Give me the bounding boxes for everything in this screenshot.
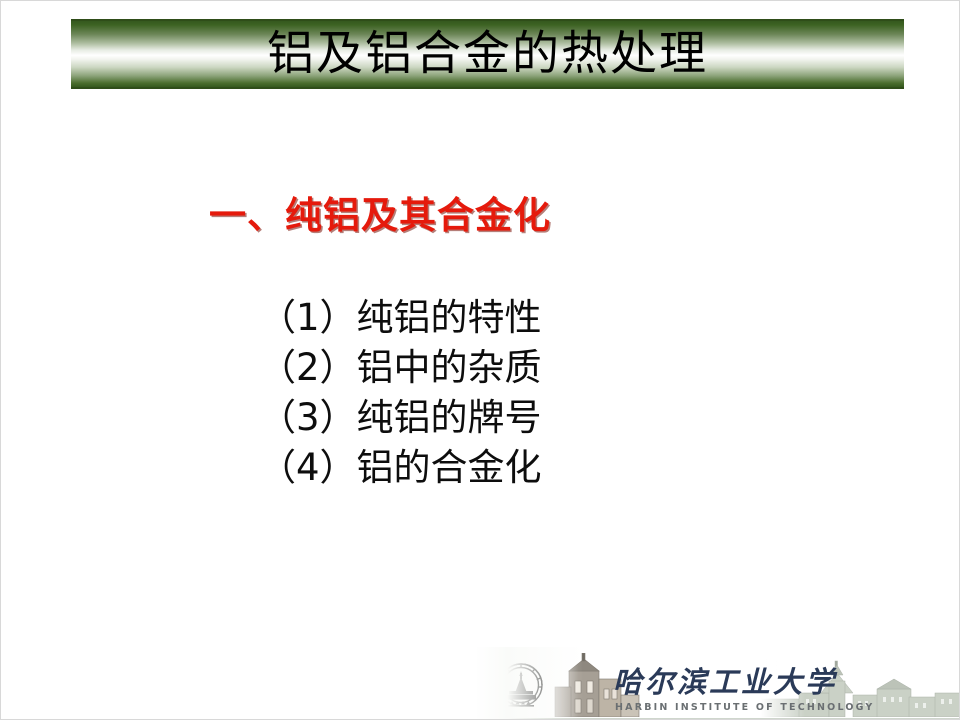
title-banner: 铝及铝合金的热处理	[71, 19, 904, 89]
list-item: （3）纯铝的牌号	[259, 393, 542, 443]
slide-canvas: 铝及铝合金的热处理 一、纯铝及其合金化 （1）纯铝的特性 （2）铝中的杂质 （3…	[0, 0, 960, 720]
list-item: （2）铝中的杂质	[259, 343, 542, 393]
outline-list: （1）纯铝的特性 （2）铝中的杂质 （3）纯铝的牌号 （4）铝的合金化	[259, 293, 542, 493]
hit-gear-tower-emblem-icon	[493, 657, 549, 713]
footer-branding: 哈尔滨工业大学 HARBIN INSTITUTE OF TECHNOLOGY	[421, 647, 960, 719]
university-name-en: HARBIN INSTITUTE OF TECHNOLOGY	[615, 703, 875, 713]
page-title: 铝及铝合金的热处理	[71, 31, 904, 78]
footer-divider	[421, 718, 960, 719]
list-item: （1）纯铝的特性	[259, 293, 542, 343]
section-heading: 一、纯铝及其合金化	[209, 195, 551, 238]
list-item: （4）铝的合金化	[259, 443, 542, 493]
university-name-cn: 哈尔滨工业大学	[613, 668, 837, 697]
